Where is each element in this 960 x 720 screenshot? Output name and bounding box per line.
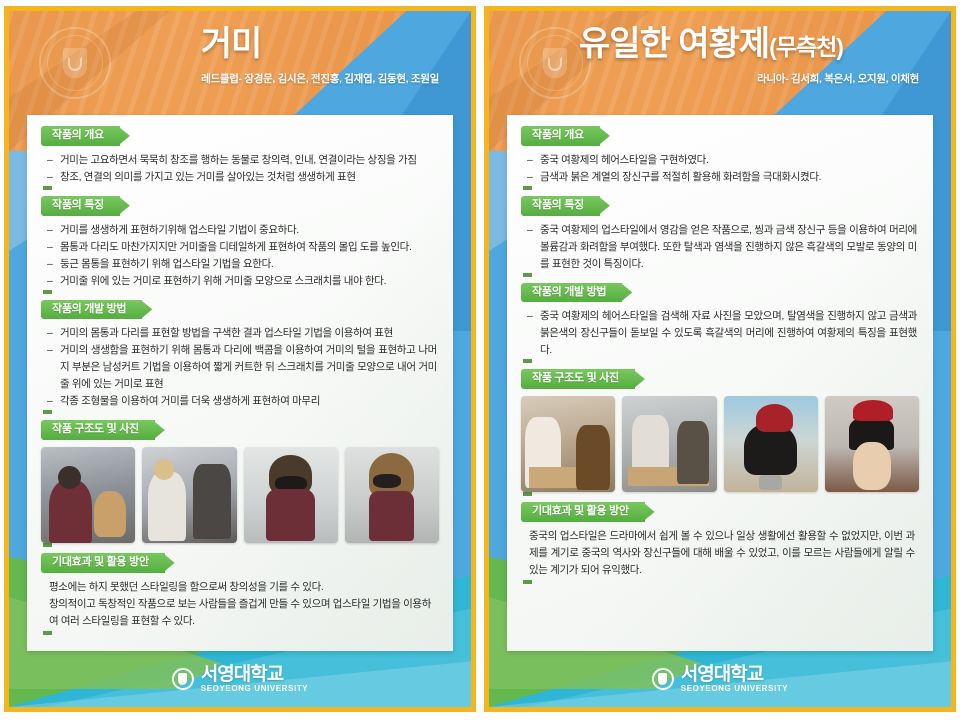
university-name-ko: 서영대학교 (201, 665, 308, 684)
tag-fold (523, 273, 532, 277)
poster-left-content-card: 작품의 개요 거미는 고요하면서 묵묵히 창조를 행하는 동물로 창의력, 인내… (27, 115, 453, 651)
section-photos: 작품 구조도 및 사진 (521, 368, 919, 492)
empress-updo-back-photo[interactable] (724, 396, 818, 492)
section-tag-features: 작품의 특징 (41, 196, 120, 216)
poster-authors: 레드클럽- 장경문, 김시온, 전진홍, 김재엽, 김동현, 조원일 (9, 71, 439, 86)
poster-left-canvas: 거미 레드클럽- 장경문, 김시온, 전진홍, 김재엽, 김동현, 조원일 작품… (9, 11, 471, 707)
section-method: 작품의 개발 방법 중국 여황제의 헤어스타일을 검색해 자료 사진을 모았으며… (521, 282, 919, 360)
university-seal-icon (172, 668, 194, 690)
poster-gallery: 거미 레드클럽- 장경문, 김시온, 전진홍, 김재엽, 김동현, 조원일 작품… (0, 0, 960, 720)
page-title: 거미 (9, 25, 453, 64)
list-item: 거미를 생생하게 표현하기위해 업스타일 기법이 중요하다. (47, 222, 437, 239)
university-name-ko: 서영대학교 (681, 665, 788, 684)
spider-updo-side-photo[interactable] (345, 447, 439, 543)
practice-room-wide-photo[interactable] (521, 396, 615, 492)
photo-row (521, 396, 919, 492)
title-paren: (무측천) (769, 34, 843, 60)
university-name-en: SEOYEONG UNIVERSITY (201, 685, 308, 693)
poster-authors: 라니아- 김서희, 복은서, 오지원, 이채현 (489, 71, 919, 86)
list-item: 거미의 생생함을 표현하기 위해 몸통과 다리에 백콤을 이용하여 거미의 털을… (47, 342, 437, 393)
university-name-en: SEOYEONG UNIVERSITY (681, 685, 788, 693)
footer-university-logo: 서영대학교 SEOYEONG UNIVERSITY (489, 665, 951, 693)
section-method: 작품의 개발 방법 거미의 몸통과 다리를 표현할 방법을 구색한 결과 업스타… (41, 299, 439, 411)
expected-effect-text: 평소에는 하지 못했던 스타일링을 함으로써 창의성을 기를 수 있다. 창의적… (41, 579, 439, 631)
poster-left[interactable]: 거미 레드클럽- 장경문, 김시온, 전진홍, 김재엽, 김동현, 조원일 작품… (4, 6, 476, 712)
list-item: 창조, 연결의 의미를 가지고 있는 거미를 살아있는 것처럼 생생하게 표현 (47, 169, 437, 186)
tag-fold (43, 290, 52, 294)
section-expected-effect: 기대효과 및 활용 방안 평소에는 하지 못했던 스타일링을 함으로써 창의성을… (41, 552, 439, 631)
practice-room-station-photo[interactable] (622, 396, 716, 492)
section-tag-overview: 작품의 개요 (41, 126, 120, 146)
tag-fold (523, 492, 532, 496)
section-tag-method: 작품의 개발 방법 (41, 300, 142, 320)
features-list: 거미를 생생하게 표현하기위해 업스타일 기법이 중요하다. 몸통과 다리도 마… (41, 222, 439, 290)
section-tag-photos: 작품 구조도 및 사진 (41, 420, 155, 440)
salon-student-working-photo[interactable] (41, 447, 135, 543)
list-item: 중국 여황제의 업스타일에서 영감을 얻은 작품으로, 씽과 금색 장신구 등을… (527, 222, 917, 273)
section-tag-expected-effect: 기대효과 및 활용 방안 (521, 502, 645, 522)
photo-row (41, 447, 439, 543)
tag-fold (43, 631, 52, 635)
section-expected-effect: 기대효과 및 활용 방안 중국의 업스타일은 드라마에서 쉽게 볼 수 있으나 … (521, 501, 919, 580)
method-list: 거미의 몸통과 다리를 표현할 방법을 구색한 결과 업스타일 기법을 이용하여… (41, 325, 439, 410)
expected-effect-text: 중국의 업스타일은 드라마에서 쉽게 볼 수 있으나 일상 생활에선 활용할 수… (521, 528, 919, 580)
tag-fold (523, 186, 532, 190)
university-seal-icon (652, 668, 674, 690)
list-item: 각종 조형물을 이용하여 거미를 더욱 생생하게 표현하여 마무리 (47, 393, 437, 410)
list-item: 몸통과 다리도 마찬가지지만 거미줄을 디테일하게 표현하여 작품의 몰입 도를… (47, 239, 437, 256)
list-item: 중국 여황제의 헤어스타일을 구현하였다. (527, 152, 917, 169)
overview-list: 거미는 고요하면서 묵묵히 창조를 행하는 동물로 창의력, 인내, 연결이라는… (41, 152, 439, 186)
tag-fold (523, 359, 532, 363)
poster-right-header: 유일한 여황제(무측천) 라니아- 김서희, 복은서, 오지원, 이채현 (489, 11, 951, 115)
section-features: 작품의 특징 중국 여황제의 업스타일에서 영감을 얻은 작품으로, 씽과 금색… (521, 195, 919, 273)
method-list: 중국 여황제의 헤어스타일을 검색해 자료 사진을 모았으며, 탈염색을 진행하… (521, 308, 919, 359)
list-item: 거미의 몸통과 다리를 표현할 방법을 구색한 결과 업스타일 기법을 이용하여… (47, 325, 437, 342)
list-item: 금색과 붉은 계열의 장신구를 적절히 활용해 화려함을 극대화시켰다. (527, 169, 917, 186)
poster-right-canvas: 유일한 여황제(무측천) 라니아- 김서희, 복은서, 오지원, 이채현 작품의… (489, 11, 951, 707)
section-photos: 작품 구조도 및 사진 (41, 419, 439, 543)
section-tag-expected-effect: 기대효과 및 활용 방안 (41, 553, 165, 573)
tag-fold (523, 580, 532, 584)
empress-updo-front-photo[interactable] (825, 396, 919, 492)
poster-left-header: 거미 레드클럽- 장경문, 김시온, 전진홍, 김재엽, 김동현, 조원일 (9, 11, 471, 115)
page-title: 유일한 여황제(무측천) (489, 25, 933, 64)
section-tag-features: 작품의 특징 (521, 196, 600, 216)
section-tag-method: 작품의 개발 방법 (521, 283, 622, 303)
poster-right[interactable]: 유일한 여황제(무측천) 라니아- 김서희, 복은서, 오지원, 이채현 작품의… (484, 6, 956, 712)
poster-right-content-card: 작품의 개요 중국 여황제의 헤어스타일을 구현하였다. 금색과 붉은 계열의 … (507, 115, 933, 651)
list-item: 중국 여황제의 헤어스타일을 검색해 자료 사진을 모았으며, 탈염색을 진행하… (527, 308, 917, 359)
section-tag-overview: 작품의 개요 (521, 126, 600, 146)
section-overview: 작품의 개요 중국 여황제의 헤어스타일을 구현하였다. 금색과 붉은 계열의 … (521, 125, 919, 186)
spider-updo-front-photo[interactable] (244, 447, 338, 543)
tag-fold (43, 410, 52, 414)
overview-list: 중국 여황제의 헤어스타일을 구현하였다. 금색과 붉은 계열의 장신구를 적절… (521, 152, 919, 186)
list-item: 거미줄 위에 있는 거미로 표현하기 위해 거미줄 모양으로 스크래치를 내야 … (47, 273, 437, 290)
list-item: 거미는 고요하면서 묵묵히 창조를 행하는 동물로 창의력, 인내, 연결이라는… (47, 152, 437, 169)
section-overview: 작품의 개요 거미는 고요하면서 묵묵히 창조를 행하는 동물로 창의력, 인내… (41, 125, 439, 186)
list-item: 둥근 몸통을 표현하기 위해 업스타일 기법을 요한다. (47, 256, 437, 273)
features-list: 중국 여황제의 업스타일에서 영감을 얻은 작품으로, 씽과 금색 장신구 등을… (521, 222, 919, 273)
tag-fold (43, 186, 52, 190)
salon-instructor-photo[interactable] (142, 447, 236, 543)
footer-university-logo: 서영대학교 SEOYEONG UNIVERSITY (9, 665, 471, 693)
tag-fold (43, 543, 52, 547)
section-features: 작품의 특징 거미를 생생하게 표현하기위해 업스타일 기법이 중요하다. 몸통… (41, 195, 439, 290)
section-tag-photos: 작품 구조도 및 사진 (521, 369, 635, 389)
